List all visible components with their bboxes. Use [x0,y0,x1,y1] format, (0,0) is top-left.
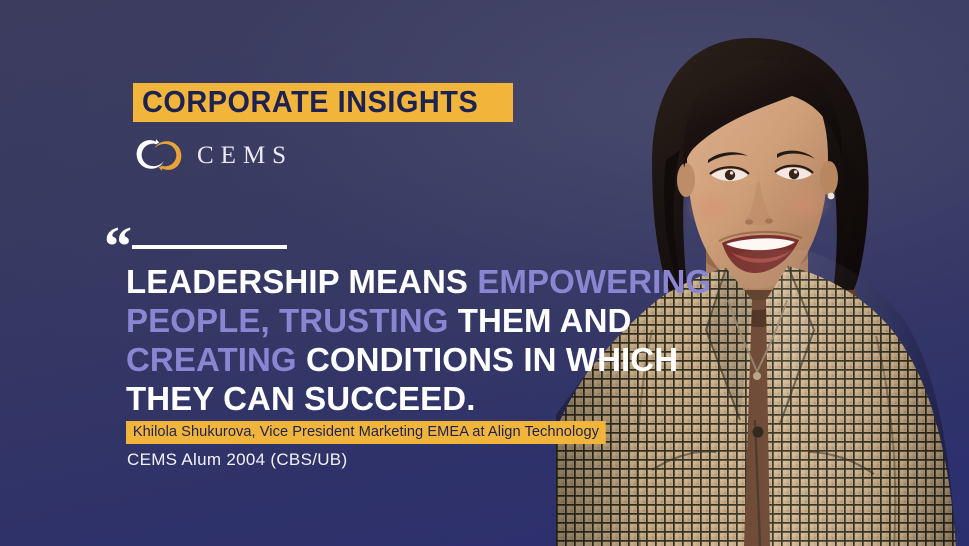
cems-wordmark: CEMS [195,143,293,168]
cems-swoosh-logo-icon [133,134,185,176]
quote-segment-highlight: EMPOWERING [477,263,711,300]
cems-logo: CEMS [133,134,293,176]
quote-line-3: CREATING CONDITIONS IN WHICH [126,341,664,380]
quote-line-2: PEOPLE, TRUSTING THEM AND [126,302,664,341]
quote-decoration: “ [104,228,664,256]
quote-segment: CONDITIONS IN WHICH [306,341,678,378]
quote-rule-divider [132,245,287,249]
attribution-block: Khilola Shukurova, Vice President Market… [126,421,618,469]
quote-segment: LEADERSHIP MEANS [126,263,477,300]
quote-segment-highlight: CREATING [126,341,306,378]
quote-block: “ LEADERSHIP MEANS EMPOWERING PEOPLE, TR… [104,228,664,419]
quote-segment-highlight: PEOPLE, TRUSTING [126,302,458,339]
speaker-name-and-role: Khilola Shukurova, Vice President Market… [126,421,606,444]
open-quote-icon: “ [104,230,131,265]
quote-text: LEADERSHIP MEANS EMPOWERING PEOPLE, TRUS… [104,263,664,419]
quote-line-1: LEADERSHIP MEANS EMPOWERING [126,263,664,302]
speaker-affiliation: CEMS Alum 2004 (CBS/UB) [126,451,618,470]
corporate-insights-banner: CORPORATE INSIGHTS [133,83,513,122]
quote-line-4: THEY CAN SUCCEED. [126,380,664,419]
page-title: CORPORATE INSIGHTS [142,86,478,117]
quote-card-slide: CORPORATE INSIGHTS CEMS “ LEADERSHIP MEA… [0,0,969,546]
quote-segment: THEM AND [458,302,632,339]
quote-segment: THEY CAN SUCCEED. [126,380,475,417]
